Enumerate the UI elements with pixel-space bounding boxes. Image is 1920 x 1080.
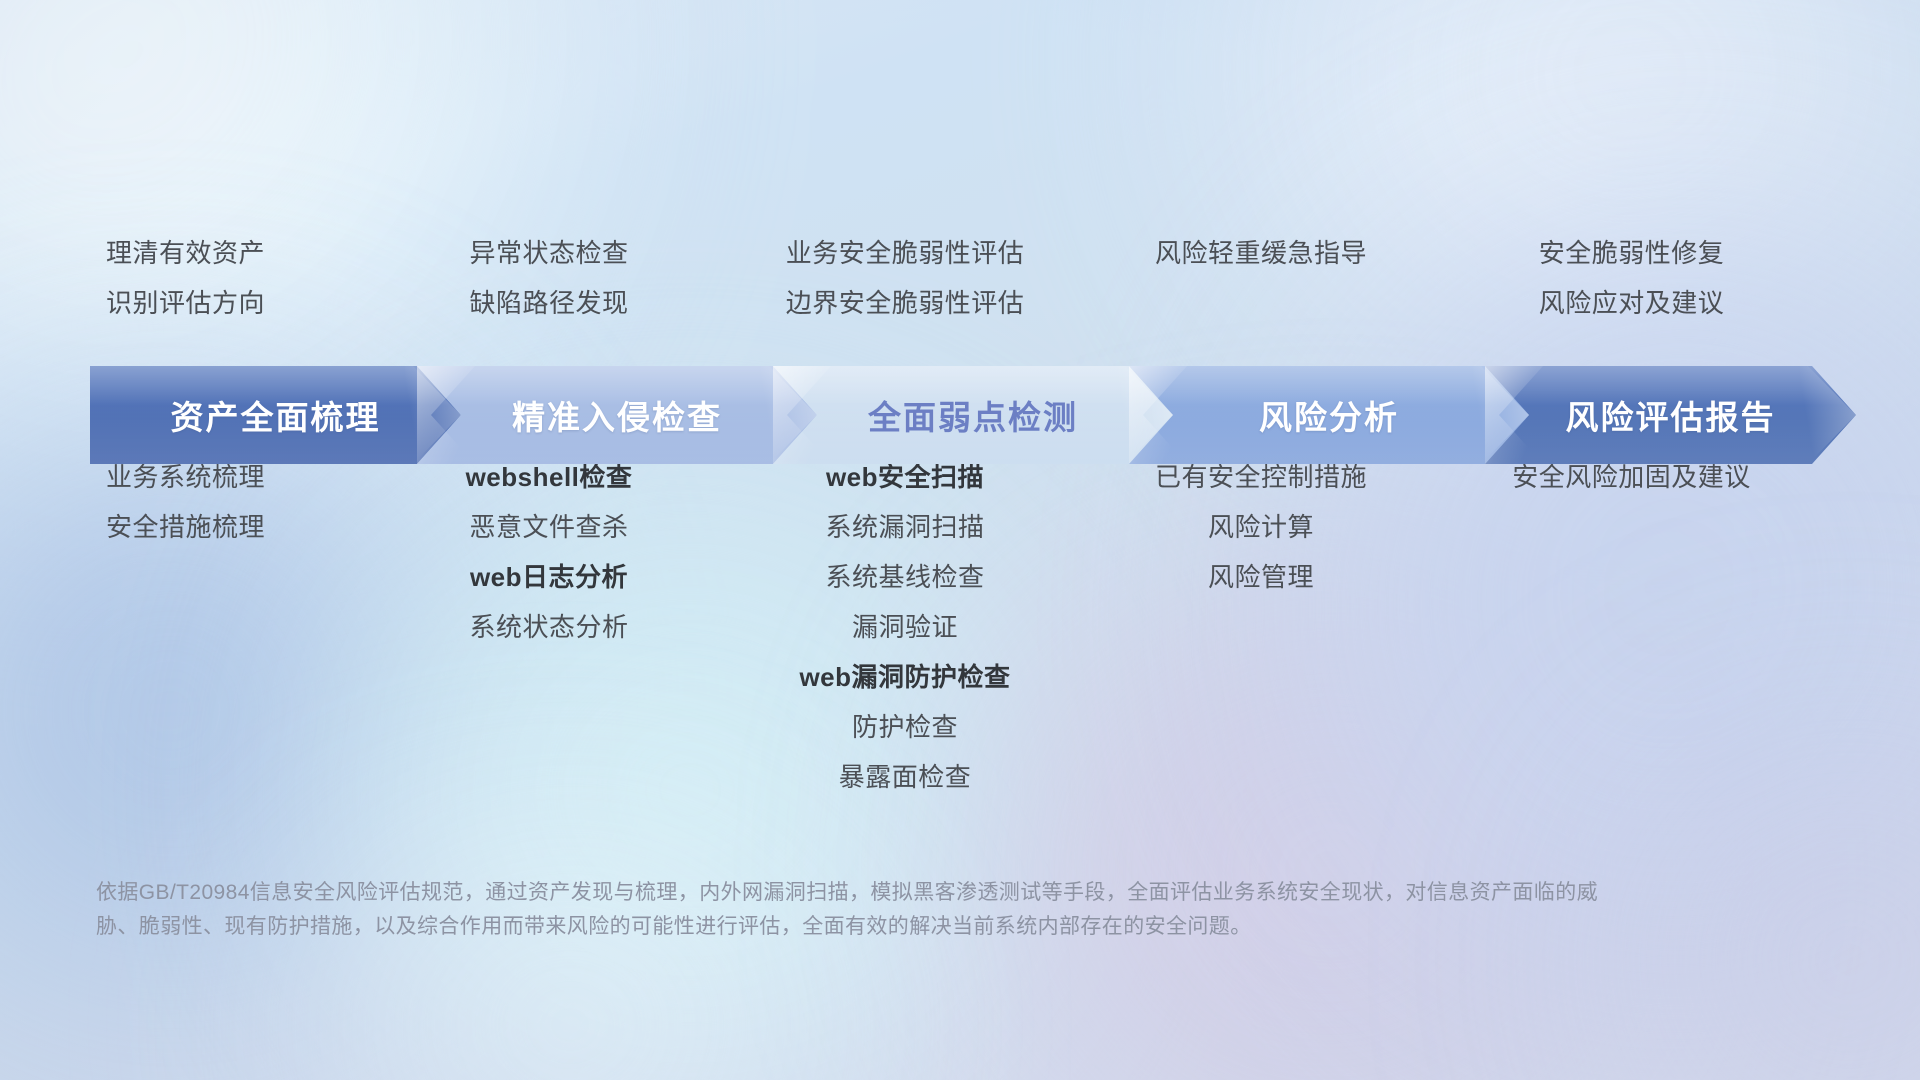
top-items-stage-1: 理清有效资产 识别评估方向: [0, 228, 371, 328]
stage-arrow-banner: 资产全面梳理 精准入侵检查 全面弱点检测 风险分析 风险评估报告: [90, 366, 1856, 464]
top-item: 业务安全脆弱性评估: [786, 228, 1025, 278]
stage-arrow-2-label: 精准入侵检查: [512, 391, 722, 439]
stage-arrow-2[interactable]: 精准入侵检查: [417, 366, 817, 464]
top-item: 风险轻重缓急指导: [1155, 228, 1367, 278]
top-item: 边界安全脆弱性评估: [786, 278, 1025, 328]
top-items-stage-3: 业务安全脆弱性评估 边界安全脆弱性评估: [727, 228, 1083, 328]
stage-arrow-5-label: 风险评估报告: [1566, 391, 1776, 439]
bottom-item: 系统状态分析: [469, 602, 628, 652]
top-item: 理清有效资产: [106, 228, 265, 278]
top-item: 识别评估方向: [106, 278, 265, 328]
bottom-items-stage-3: web安全扫描 系统漏洞扫描 系统基线检查 漏洞验证 web漏洞防护检查 防护检…: [727, 452, 1083, 802]
bottom-item: web漏洞防护检查: [799, 652, 1010, 702]
stage-arrow-3[interactable]: 全面弱点检测: [773, 366, 1173, 464]
bottom-item: 暴露面检查: [839, 752, 972, 802]
bottom-item: 系统基线检查: [825, 552, 984, 602]
bottom-items-stage-5: 安全风险加固及建议: [1439, 452, 1824, 802]
bottom-item: 安全措施梳理: [106, 502, 265, 552]
bottom-item: 漏洞验证: [852, 602, 958, 652]
bottom-item: web日志分析: [470, 552, 628, 602]
process-diagram: 理清有效资产 识别评估方向 异常状态检查 缺陷路径发现 业务安全脆弱性评估 边界…: [0, 0, 1920, 1080]
stage-arrow-1[interactable]: 资产全面梳理: [90, 366, 461, 464]
top-items-stage-4: 风险轻重缓急指导: [1083, 228, 1439, 328]
bottom-items-stage-1: 业务系统梳理 安全措施梳理: [0, 452, 371, 802]
top-item: 安全脆弱性修复: [1539, 228, 1725, 278]
top-item: 缺陷路径发现: [469, 278, 628, 328]
bottom-items-row: 业务系统梳理 安全措施梳理 webshell检查 恶意文件查杀 web日志分析 …: [0, 452, 1920, 802]
stage-arrow-4-label: 风险分析: [1259, 391, 1399, 439]
top-item: 异常状态检查: [469, 228, 628, 278]
bottom-items-stage-4: 已有安全控制措施 风险计算 风险管理: [1083, 452, 1439, 802]
footer-description: 依据GB/T20984信息安全风险评估规范，通过资产发现与梳理，内外网漏洞扫描，…: [96, 876, 1616, 944]
stage-arrow-3-label: 全面弱点检测: [868, 391, 1078, 439]
bottom-item: 系统漏洞扫描: [825, 502, 984, 552]
bottom-item: 风险计算: [1208, 502, 1314, 552]
stage-arrow-4[interactable]: 风险分析: [1129, 366, 1529, 464]
stage-arrow-5[interactable]: 风险评估报告: [1485, 366, 1856, 464]
stage-arrow-1-label: 资产全面梳理: [171, 391, 381, 439]
bottom-item: 恶意文件查杀: [469, 502, 628, 552]
top-items-stage-2: 异常状态检查 缺陷路径发现: [371, 228, 727, 328]
top-item: 风险应对及建议: [1539, 278, 1725, 328]
top-items-stage-5: 安全脆弱性修复 风险应对及建议: [1439, 228, 1824, 328]
top-items-row: 理清有效资产 识别评估方向 异常状态检查 缺陷路径发现 业务安全脆弱性评估 边界…: [0, 228, 1920, 328]
bottom-item: 防护检查: [852, 702, 958, 752]
bottom-items-stage-2: webshell检查 恶意文件查杀 web日志分析 系统状态分析: [371, 452, 727, 802]
bottom-item: 风险管理: [1208, 552, 1314, 602]
